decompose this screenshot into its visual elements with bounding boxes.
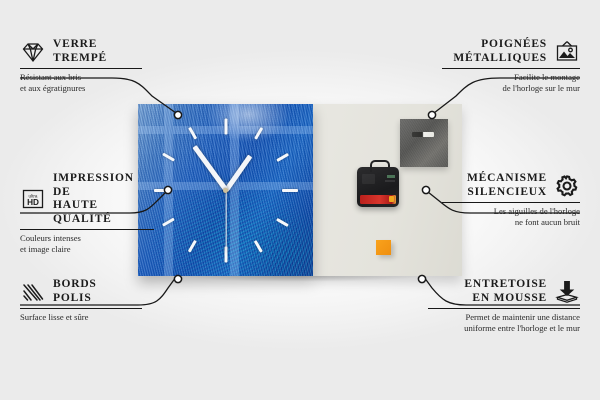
movement-hanging-loop	[370, 160, 390, 172]
arrow-down-onto-pad-icon	[554, 279, 580, 305]
movement-detail-green	[387, 175, 395, 178]
hour-hand	[224, 154, 252, 191]
clock-glass-face	[138, 104, 313, 276]
callout-verre-trempe: VERRE TREMPÉ Résistant aux bris et aux é…	[20, 38, 142, 93]
picture-frame-hanging-icon	[554, 39, 580, 65]
callout-subtitle: Couleurs intenses et image claire	[20, 233, 154, 254]
callout-entretoise-en-mousse: ENTRETOISE EN MOUSSE Permet de maintenir…	[428, 278, 580, 333]
callout-mecanisme-silencieux: MÉCANISME SILENCIEUX Les aiguilles de l'…	[442, 172, 580, 227]
clock-movement	[357, 167, 399, 207]
callout-divider	[20, 308, 142, 309]
callout-title: VERRE TREMPÉ	[53, 38, 107, 65]
callout-title: BORDS POLIS	[53, 278, 97, 305]
callout-subtitle: Surface lisse et sûre	[20, 312, 142, 322]
clock-hands	[138, 104, 313, 276]
callout-title: ENTRETOISE EN MOUSSE	[464, 278, 547, 305]
second-hand	[225, 190, 226, 252]
hanger-texture	[400, 119, 448, 167]
callout-divider	[428, 308, 580, 309]
callout-subtitle: Permet de maintenir une distance uniform…	[428, 312, 580, 333]
clock-back-panel	[312, 104, 462, 276]
hands-center-cap	[223, 188, 228, 193]
callout-divider	[442, 68, 580, 69]
movement-detail-panel	[362, 174, 375, 184]
callout-bords-polis: BORDS POLIS Surface lisse et sûre	[20, 278, 142, 323]
callout-poignees-metalliques: POIGNÉES MÉTALLIQUES Facilite le montage…	[442, 38, 580, 93]
hanger-slot	[412, 132, 434, 137]
callout-title: IMPRESSION DE HAUTE QUALITÉ	[53, 172, 154, 226]
callout-divider	[442, 202, 580, 203]
callout-subtitle: Résistant aux bris et aux égratignures	[20, 72, 142, 93]
infographic-canvas: VERRE TREMPÉ Résistant aux bris et aux é…	[0, 0, 600, 400]
battery-plus-terminal	[389, 196, 394, 202]
callout-divider	[20, 229, 154, 230]
svg-text:HD: HD	[27, 198, 39, 207]
minute-hand	[192, 145, 227, 191]
metal-hanger-plate	[400, 119, 448, 167]
product-image	[138, 104, 462, 276]
foam-spacer	[376, 240, 391, 255]
gear-icon	[554, 173, 580, 199]
callout-divider	[20, 68, 142, 69]
ultra-hd-icon: ultra HD	[20, 186, 46, 212]
diamond-icon	[20, 39, 46, 65]
callout-impression-haute-qualite: ultra HD IMPRESSION DE HAUTE QUALITÉ Cou…	[20, 172, 154, 254]
callout-title: MÉCANISME SILENCIEUX	[467, 172, 547, 199]
callout-title: POIGNÉES MÉTALLIQUES	[453, 38, 547, 65]
polished-edges-icon	[20, 279, 46, 305]
callout-subtitle: Les aiguilles de l'horloge ne font aucun…	[442, 206, 580, 227]
callout-subtitle: Facilite le montage de l'horloge sur le …	[442, 72, 580, 93]
movement-detail-line	[385, 180, 395, 182]
battery	[360, 195, 396, 204]
